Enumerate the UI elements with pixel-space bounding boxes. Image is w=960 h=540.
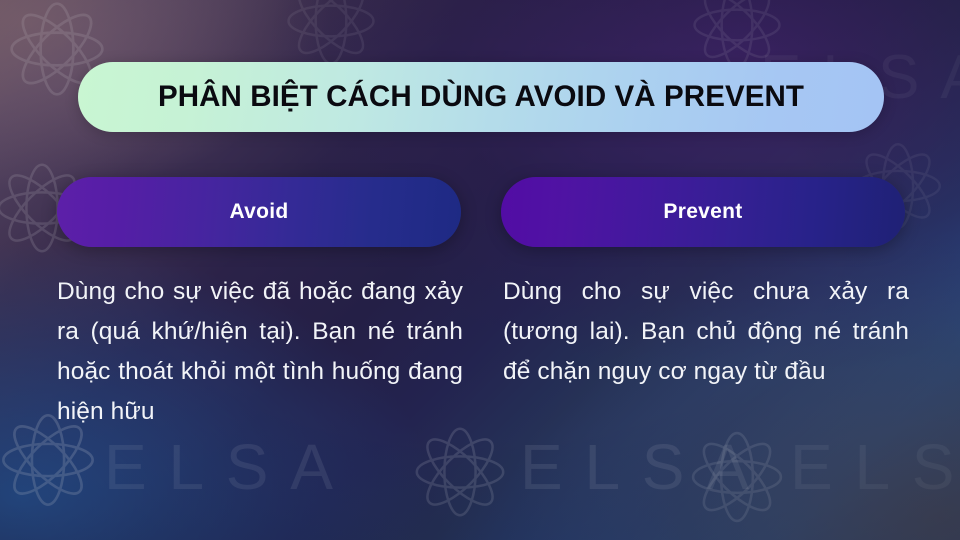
- column-label-avoid: Avoid: [229, 200, 288, 224]
- column-body-prevent: Dùng cho sự việc chưa xảy ra (tương lai)…: [503, 272, 909, 392]
- column-header-prevent: Prevent: [501, 177, 905, 247]
- slide-title-pill: PHÂN BIỆT CÁCH DÙNG AVOID VÀ PREVENT: [78, 62, 884, 132]
- column-label-prevent: Prevent: [663, 200, 742, 224]
- column-header-avoid: Avoid: [57, 177, 461, 247]
- column-body-avoid: Dùng cho sự việc đã hoặc đang xảy ra (qu…: [57, 272, 463, 432]
- slide-canvas: ELSA ELSA ELSA ELSA ELSA ELSA PHÂN BIỆT …: [0, 0, 960, 540]
- page-title: PHÂN BIỆT CÁCH DÙNG AVOID VÀ PREVENT: [158, 80, 804, 114]
